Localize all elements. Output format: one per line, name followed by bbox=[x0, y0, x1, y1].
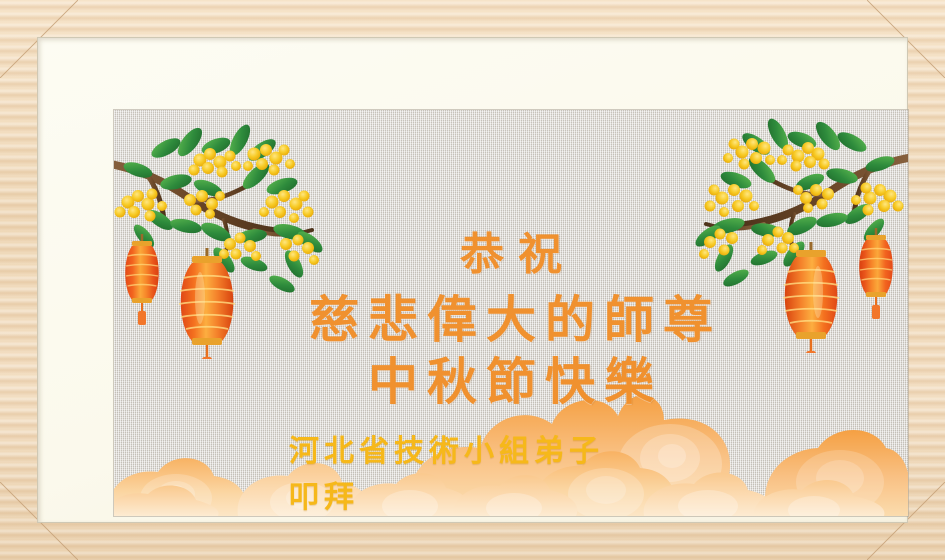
picture-frame: 恭祝 慈悲偉大的師尊 中秋節快樂 河北省技術小組弟子 叩拜 bbox=[0, 0, 945, 560]
signature-line-2: 叩拜 bbox=[289, 472, 359, 516]
signature-line-1: 河北省技術小組弟子 bbox=[289, 426, 604, 470]
artwork-canvas: 恭祝 慈悲偉大的師尊 中秋節快樂 河北省技術小組弟子 叩拜 bbox=[114, 110, 908, 516]
greeting-line-3: 中秋節快樂 bbox=[114, 342, 908, 414]
greeting-line-1: 恭祝 bbox=[114, 218, 908, 282]
frame-mat: 恭祝 慈悲偉大的師尊 中秋節快樂 河北省技術小組弟子 叩拜 bbox=[38, 38, 907, 522]
